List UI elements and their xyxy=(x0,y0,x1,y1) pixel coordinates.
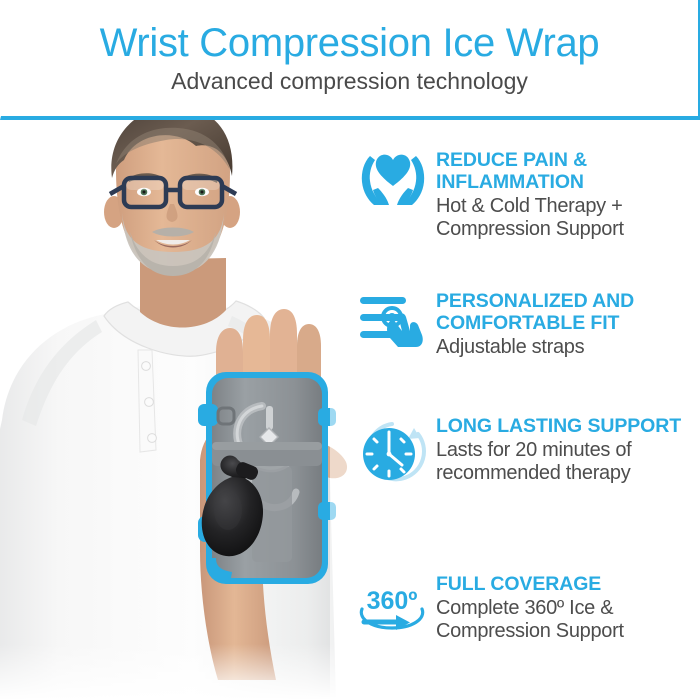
feature-body: Adjustable straps xyxy=(436,336,700,360)
feature-text: LONG LASTING SUPPORT Lasts for 20 minute… xyxy=(430,416,700,488)
page-title: Wrist Compression Ice Wrap xyxy=(100,23,600,63)
hand-tapping-sliders-icon xyxy=(356,291,430,359)
feature-item-long-lasting: LONG LASTING SUPPORT Lasts for 20 minute… xyxy=(356,416,700,488)
360-degrees-label: 360º xyxy=(367,587,418,615)
feature-heading: FULL COVERAGE xyxy=(436,574,700,596)
clock-rotate-icon xyxy=(356,416,430,488)
feature-item-full-coverage: 360º FULL COVERAGE Complete 360º Ice & C… xyxy=(356,574,700,644)
product-lifestyle-photo xyxy=(0,120,360,700)
feature-body: Lasts for 20 minutes of recommended ther… xyxy=(436,439,700,486)
model-head xyxy=(104,120,240,276)
feature-item-reduce-pain: REDUCE PAIN & INFLAMMATION Hot & Cold Th… xyxy=(356,150,700,242)
feature-heading: LONG LASTING SUPPORT xyxy=(436,416,700,438)
feature-body: Complete 360º Ice & Compression Support xyxy=(436,597,700,644)
feature-heading: PERSONALIZED AND COMFORTABLE FIT xyxy=(436,291,700,335)
feature-text: FULL COVERAGE Complete 360º Ice & Compre… xyxy=(430,574,700,644)
feature-heading: REDUCE PAIN & INFLAMMATION xyxy=(436,150,700,194)
page-subtitle: Advanced compression technology xyxy=(171,70,528,93)
feature-text: REDUCE PAIN & INFLAMMATION Hot & Cold Th… xyxy=(430,150,700,242)
360-degrees-arrow-icon: 360º xyxy=(356,574,430,644)
feature-list: REDUCE PAIN & INFLAMMATION Hot & Cold Th… xyxy=(356,126,700,686)
feature-text: PERSONALIZED AND COMFORTABLE FIT Adjusta… xyxy=(430,291,700,359)
feature-body: Hot & Cold Therapy + Compression Support xyxy=(436,195,700,242)
feature-item-personalized-fit: PERSONALIZED AND COMFORTABLE FIT Adjusta… xyxy=(356,291,700,359)
header-banner: Wrist Compression Ice Wrap Advanced comp… xyxy=(0,0,700,120)
hands-holding-heart-icon xyxy=(356,150,430,242)
model-illustration xyxy=(0,120,360,700)
